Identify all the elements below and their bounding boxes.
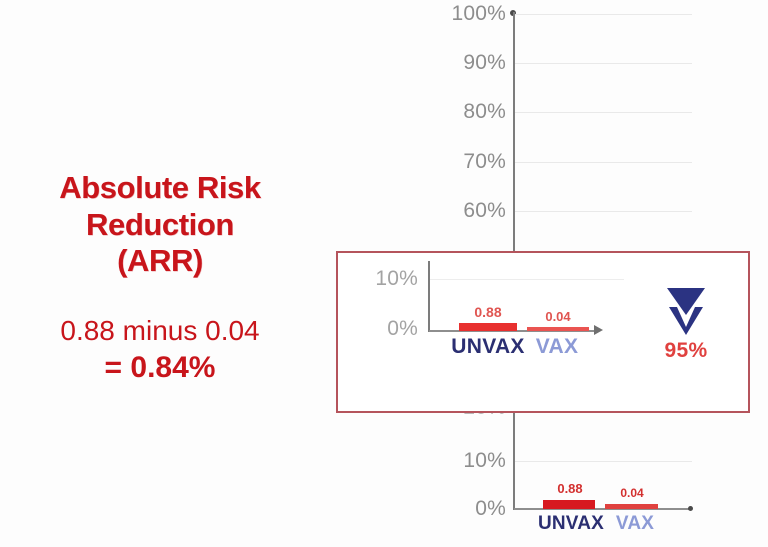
gridline-80 xyxy=(515,112,692,113)
arr-calculation: 0.88 minus 0.04 = 0.84% xyxy=(0,314,320,387)
y-tick-label-90: 90% xyxy=(426,51,506,75)
rrr-value-label: 95% xyxy=(638,339,734,363)
zoom-callout-box: 10% 0% 0.88 0.04 UNVAX VAX 95% xyxy=(336,251,750,413)
y-tick-label-60: 60% xyxy=(426,199,506,223)
page-title-line-1: Absolute Risk xyxy=(0,170,320,207)
inset-gridline-10 xyxy=(430,279,624,280)
gridline-70 xyxy=(515,162,692,163)
category-label-unvax: UNVAX xyxy=(531,513,611,535)
y-tick-label-80: 80% xyxy=(426,100,506,124)
inset-x-axis-arrowhead-icon xyxy=(594,325,603,335)
relative-risk-reduction-marker: 95% xyxy=(638,285,734,363)
inset-bar-vax xyxy=(527,327,589,331)
page-title: Absolute Risk Reduction (ARR) xyxy=(0,170,320,280)
inset-bar-chart: 10% 0% 0.88 0.04 UNVAX VAX 95% xyxy=(338,253,748,411)
page-title-line-2: Reduction xyxy=(0,207,320,244)
bar-value-unvax: 0.88 xyxy=(538,481,602,496)
y-tick-label-100: 100% xyxy=(426,2,506,26)
gridline-90 xyxy=(515,63,692,64)
y-tick-label-10: 10% xyxy=(426,449,506,473)
inset-y-axis-line xyxy=(428,261,430,332)
inset-category-label-unvax: UNVAX xyxy=(446,335,530,359)
arr-caption-block: Absolute Risk Reduction (ARR) 0.88 minus… xyxy=(0,170,320,387)
arr-equation: 0.88 minus 0.04 xyxy=(0,314,320,348)
inset-category-label-vax: VAX xyxy=(526,335,588,359)
bar-vax xyxy=(605,504,658,509)
bar-value-vax: 0.04 xyxy=(602,486,662,500)
double-chevron-down-icon xyxy=(663,285,709,337)
y-tick-label-0: 0% xyxy=(426,497,506,521)
category-label-vax: VAX xyxy=(607,513,663,535)
inset-y-tick-label-10: 10% xyxy=(348,267,418,291)
gridline-10 xyxy=(515,461,692,462)
y-tick-label-70: 70% xyxy=(426,150,506,174)
inset-y-tick-label-0: 0% xyxy=(348,317,418,341)
page-title-line-3: (ARR) xyxy=(0,243,320,280)
x-axis-end-dot xyxy=(688,506,693,511)
x-axis-baseline xyxy=(514,508,690,510)
gridline-60 xyxy=(515,211,692,212)
gridline-100 xyxy=(515,14,692,15)
bar-unvax xyxy=(543,500,595,509)
arr-result: = 0.84% xyxy=(0,349,320,387)
inset-bar-value-unvax: 0.88 xyxy=(455,304,521,320)
inset-bar-value-vax: 0.04 xyxy=(526,309,590,324)
inset-bar-unvax xyxy=(459,323,517,331)
